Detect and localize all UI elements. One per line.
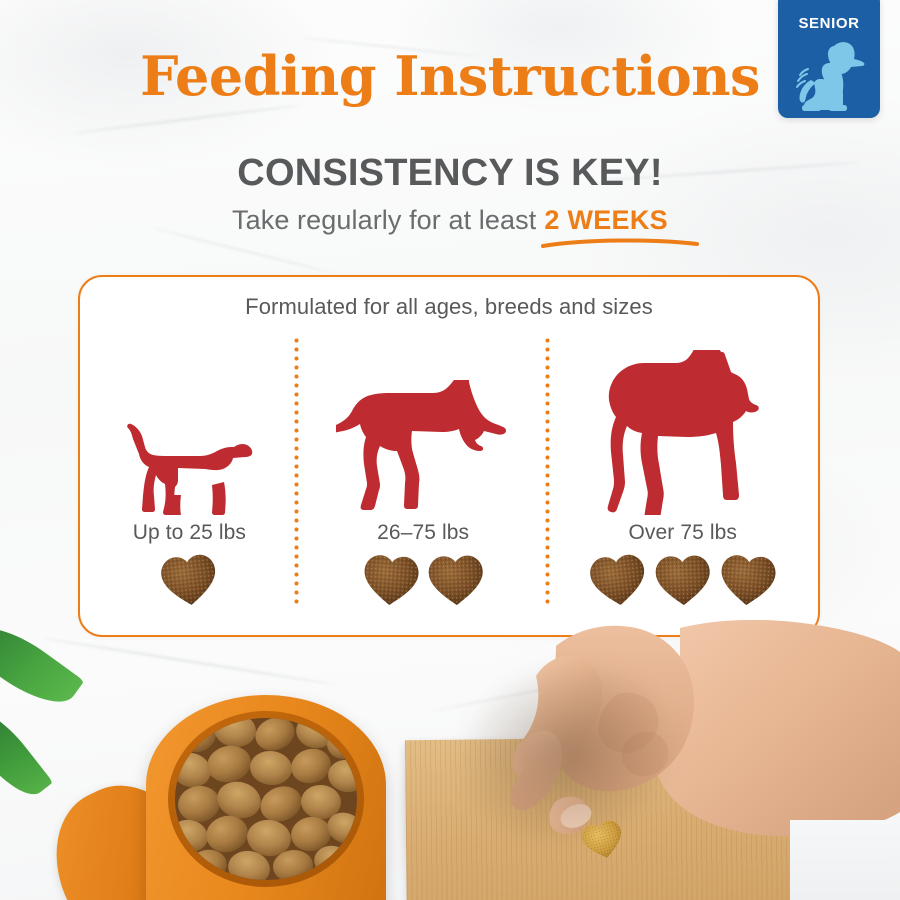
kibble-heart-icon bbox=[360, 551, 422, 609]
tagline-text: Take regularly for at least bbox=[232, 205, 536, 236]
weight-label-large: Over 75 lbs bbox=[628, 521, 736, 545]
weight-label-small: Up to 25 lbs bbox=[133, 521, 246, 545]
senior-badge-label: SENIOR bbox=[798, 16, 859, 31]
kibble-heart-icon bbox=[426, 552, 486, 608]
tagline-emphasis-label: 2 WEEKS bbox=[544, 205, 668, 235]
size-column-small: Up to 25 lbs bbox=[80, 335, 299, 635]
counter-corner bbox=[790, 820, 900, 900]
column-divider-right bbox=[545, 336, 550, 606]
feeding-chart-card: Formulated for all ages, breeds and size… bbox=[78, 275, 820, 637]
kibble-heart-icon bbox=[586, 550, 649, 610]
treat-count-medium bbox=[362, 553, 485, 607]
product-photo bbox=[0, 620, 900, 900]
treat-count-small bbox=[160, 553, 218, 607]
weight-label-medium: 26–75 lbs bbox=[377, 521, 469, 545]
page-title: Feeding Instructions bbox=[0, 48, 900, 105]
treat-count-large bbox=[589, 553, 777, 607]
medium-dog-silhouette-icon bbox=[336, 335, 511, 515]
card-heading: Formulated for all ages, breeds and size… bbox=[80, 294, 818, 320]
size-column-large: Over 75 lbs bbox=[547, 335, 818, 635]
kibble-heart-icon bbox=[653, 552, 713, 608]
tagline-row: Take regularly for at least2 WEEKS bbox=[0, 205, 900, 236]
kibble-heart-icon bbox=[717, 551, 779, 609]
kibble-pile bbox=[175, 718, 357, 880]
tagline-emphasis: 2 WEEKS bbox=[544, 205, 668, 236]
infographic-page: SENIOR bbox=[0, 0, 900, 900]
size-columns: Up to 25 lbs bbox=[80, 335, 818, 635]
page-subtitle: CONSISTENCY IS KEY! bbox=[0, 152, 900, 195]
kibble-heart-icon bbox=[158, 550, 221, 610]
jar-mouth bbox=[168, 711, 364, 887]
green-plant-leaf bbox=[0, 620, 84, 718]
size-column-medium: 26–75 lbs bbox=[299, 335, 548, 635]
green-plant-leaf bbox=[0, 697, 53, 807]
small-dog-silhouette-icon bbox=[124, 335, 254, 515]
underline-swoosh-icon bbox=[540, 236, 700, 250]
orange-treat-jar bbox=[146, 695, 386, 900]
column-divider-left bbox=[294, 336, 299, 606]
large-dog-silhouette-icon bbox=[590, 335, 775, 515]
